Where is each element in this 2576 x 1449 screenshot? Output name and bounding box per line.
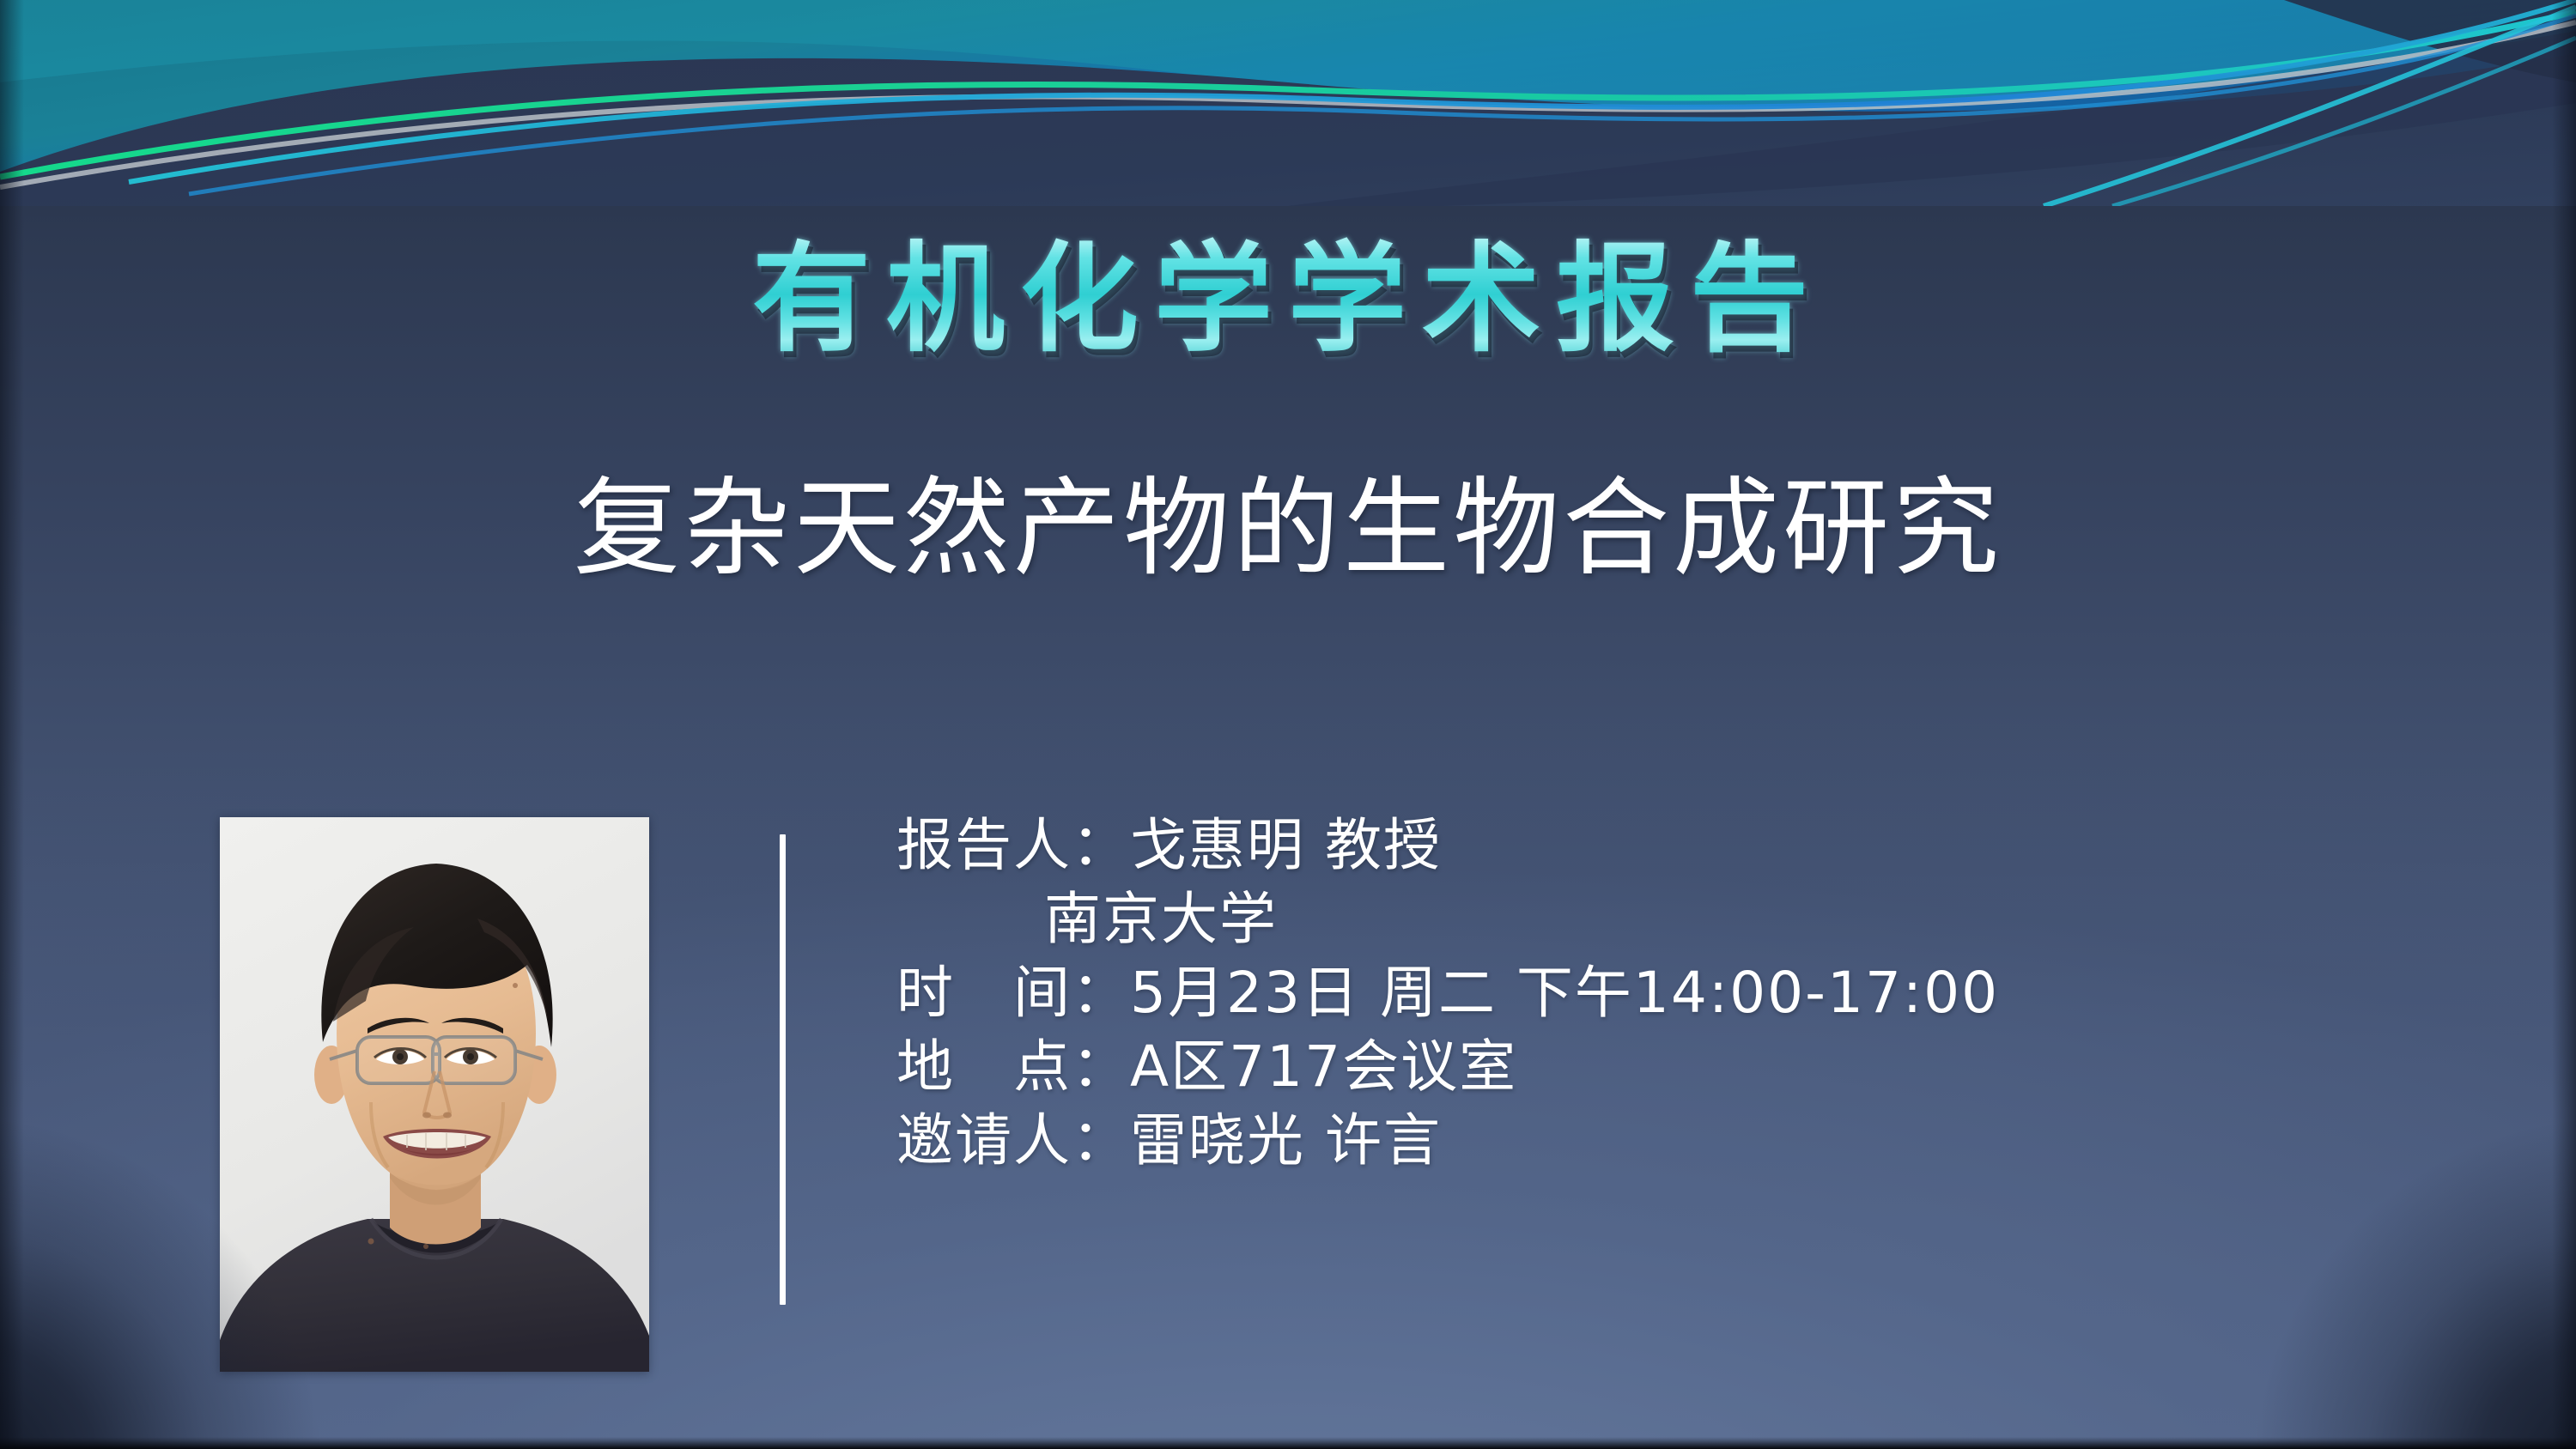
presentation-slide: 有机化学学术报告 复杂天然产物的生物合成研究 <box>0 0 2576 1449</box>
detail-row-host: 邀请人：雷晓光 许言 <box>896 1104 2442 1178</box>
detail-row-affiliation: 南京大学 <box>896 882 2442 956</box>
vertical-divider <box>780 834 786 1305</box>
speaker-portrait <box>220 817 649 1372</box>
host-label: 邀请人： <box>896 1107 1130 1173</box>
detail-row-speaker: 报告人：戈惠明 教授 <box>896 809 2442 882</box>
speaker-value: 戈惠明 教授 <box>1130 812 1442 878</box>
decorative-banner <box>0 0 2576 206</box>
location-label: 地 点： <box>896 1034 1130 1100</box>
detail-row-time: 时 间：5月23日 周二 下午14:00-17:00 <box>896 956 2442 1030</box>
host-value: 雷晓光 许言 <box>1130 1107 1442 1173</box>
speaker-label: 报告人： <box>896 812 1130 878</box>
detail-row-location: 地 点：A区717会议室 <box>896 1030 2442 1104</box>
location-value: A区717会议室 <box>1130 1034 1517 1100</box>
lecture-subtitle: 复杂天然产物的生物合成研究 <box>0 468 2576 591</box>
event-details: 报告人：戈惠明 教授 南京大学 时 间：5月23日 周二 下午14:00-17:… <box>896 809 2442 1178</box>
affiliation-value: 南京大学 <box>1044 886 1278 952</box>
page-title: 有机化学学术报告 <box>0 233 2576 367</box>
time-value: 5月23日 周二 下午14:00-17:00 <box>1130 960 1999 1026</box>
time-label: 时 间： <box>896 960 1130 1026</box>
